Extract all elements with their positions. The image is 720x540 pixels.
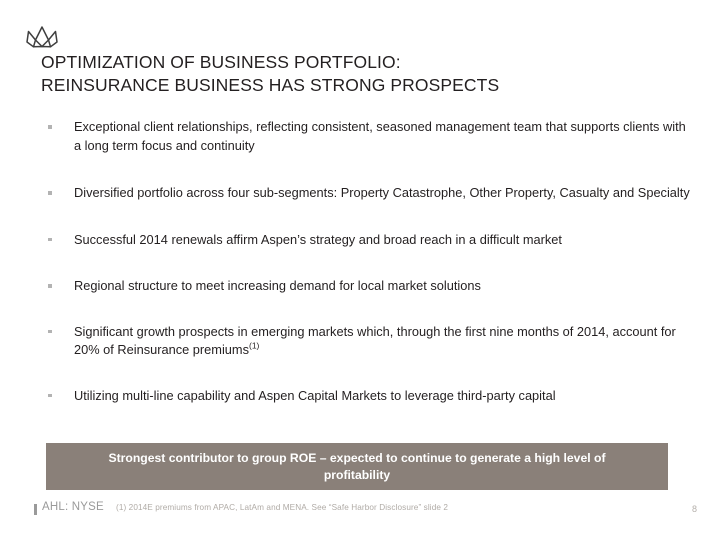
title-line-2: REINSURANCE BUSINESS HAS STRONG PROSPECT… <box>41 74 681 97</box>
bullet-spacer <box>46 203 696 231</box>
list-item: Utilizing multi-line capability and Aspe… <box>46 387 696 406</box>
bullet-square-icon <box>48 238 52 242</box>
bullet-list: Exceptional client relationships, reflec… <box>46 118 696 405</box>
ticker-bar-icon <box>34 504 37 515</box>
bullet-text: Diversified portfolio across four sub-se… <box>74 184 696 203</box>
bullet-text: Exceptional client relationships, reflec… <box>74 118 696 155</box>
slide-footer: AHL: NYSE (1) 2014E premiums from APAC, … <box>0 501 720 521</box>
bullet-text: Regional structure to meet increasing de… <box>74 277 696 296</box>
bullet-square-icon <box>48 330 52 334</box>
bullet-spacer <box>46 296 696 323</box>
aspen-crown-logo-icon <box>19 20 65 54</box>
list-item: Diversified portfolio across four sub-se… <box>46 184 696 203</box>
page-title: OPTIMIZATION OF BUSINESS PORTFOLIO: REIN… <box>41 51 681 97</box>
ticker-label: AHL: NYSE <box>42 501 104 513</box>
bullet-spacer <box>46 155 696 184</box>
bullet-text: Utilizing multi-line capability and Aspe… <box>74 387 696 406</box>
bullet-square-icon <box>48 125 52 129</box>
list-item: Significant growth prospects in emerging… <box>46 323 696 360</box>
list-item: Regional structure to meet increasing de… <box>46 277 696 296</box>
bullet-text-body: Significant growth prospects in emerging… <box>74 324 676 358</box>
slide-canvas: OPTIMIZATION OF BUSINESS PORTFOLIO: REIN… <box>0 0 720 540</box>
bullet-spacer <box>46 360 696 387</box>
bullet-square-icon <box>48 284 52 288</box>
bullet-square-icon <box>48 191 52 195</box>
page-number: 8 <box>692 504 697 514</box>
list-item: Successful 2014 renewals affirm Aspen’s … <box>46 231 696 250</box>
bullet-spacer <box>46 249 696 277</box>
title-line-1: OPTIMIZATION OF BUSINESS PORTFOLIO: <box>41 51 681 74</box>
bullet-square-icon <box>48 394 52 398</box>
bullet-text: Successful 2014 renewals affirm Aspen’s … <box>74 231 696 250</box>
footnote-reference: (1) <box>249 341 259 351</box>
callout-banner-text: Strongest contributor to group ROE – exp… <box>86 450 628 483</box>
list-item: Exceptional client relationships, reflec… <box>46 118 696 155</box>
bullet-text: Significant growth prospects in emerging… <box>74 323 696 360</box>
callout-banner: Strongest contributor to group ROE – exp… <box>46 443 668 490</box>
footnote-text: (1) 2014E premiums from APAC, LatAm and … <box>116 503 448 512</box>
